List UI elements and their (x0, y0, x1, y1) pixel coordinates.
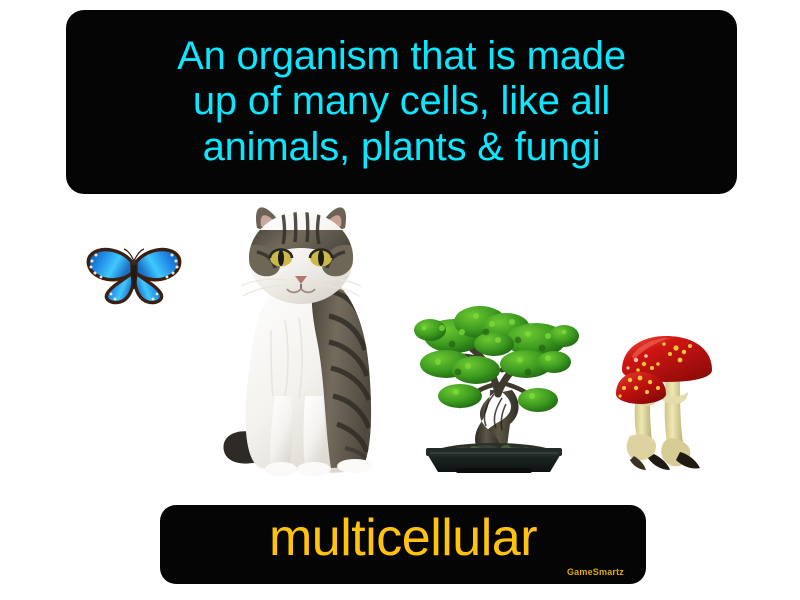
term-label: multicellular (160, 507, 646, 569)
cat-illustration (213, 200, 393, 480)
definition-banner: An organism that is made up of many cell… (66, 10, 737, 194)
bonsai-illustration (402, 244, 582, 476)
mushroom-icon (614, 330, 718, 474)
cat-icon (213, 200, 393, 480)
butterfly-illustration (82, 242, 186, 306)
definition-text: An organism that is made up of many cell… (66, 34, 737, 170)
illustration-band (0, 196, 800, 496)
definition-card: An organism that is made up of many cell… (0, 0, 800, 600)
butterfly-icon (82, 242, 186, 306)
mushroom-illustration (614, 330, 718, 474)
bonsai-tree-icon (402, 244, 582, 476)
watermark-label: GameSmartz (567, 567, 624, 577)
term-label-box: multicellular GameSmartz (160, 505, 646, 584)
